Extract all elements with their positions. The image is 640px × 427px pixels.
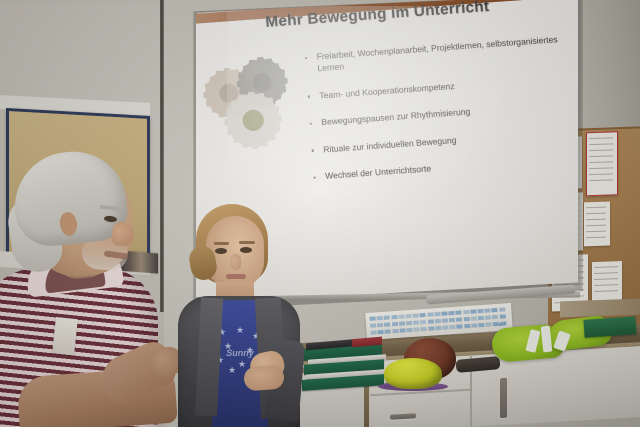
woman-eye-right xyxy=(240,247,252,253)
chart-cell xyxy=(457,324,463,328)
chart-cell xyxy=(384,315,390,319)
chart-cell xyxy=(398,314,404,318)
star-icon: ★ xyxy=(236,326,244,335)
chart-cell xyxy=(391,315,397,319)
chart-cell xyxy=(384,322,390,326)
star-icon: ★ xyxy=(238,360,246,369)
chart-cell xyxy=(492,315,498,319)
chart-cell xyxy=(420,320,426,324)
chart-cell xyxy=(449,318,455,322)
chart-cell xyxy=(500,321,506,325)
cork-board-highlight-document xyxy=(586,131,618,196)
safety-helmet xyxy=(384,358,442,389)
chart-cell xyxy=(370,330,376,334)
chart-cell xyxy=(399,328,405,332)
chart-cell xyxy=(499,314,505,318)
chart-cell xyxy=(378,330,384,334)
chart-cell xyxy=(484,308,490,312)
chart-cell xyxy=(463,317,469,321)
chart-cell xyxy=(427,319,433,323)
chart-cell xyxy=(485,322,491,326)
chart-cell xyxy=(449,325,455,329)
chart-cell xyxy=(370,316,376,320)
man-shirt-tag xyxy=(52,317,78,355)
chart-cell xyxy=(428,326,434,330)
woman-eyebrow-right xyxy=(239,241,255,244)
chart-cell xyxy=(478,316,484,320)
chart-cell xyxy=(442,318,448,322)
cabinet-door-handle[interactable] xyxy=(500,378,507,418)
chart-cell xyxy=(377,323,383,327)
chart-cell xyxy=(492,308,498,312)
chart-cell xyxy=(414,327,420,331)
chart-cell xyxy=(427,312,433,316)
chart-cell xyxy=(471,316,477,320)
chart-cell xyxy=(493,322,499,326)
chart-cell xyxy=(449,311,455,315)
woman-hand-right xyxy=(243,365,285,392)
chart-cell xyxy=(377,316,383,320)
chart-cell xyxy=(470,309,476,313)
chart-cell xyxy=(464,324,470,328)
chart-cell xyxy=(370,323,376,327)
chart-cell xyxy=(471,323,477,327)
chart-cell xyxy=(413,320,419,324)
gear-icon-large xyxy=(225,92,282,149)
chart-cell xyxy=(441,311,447,315)
star-icon: ★ xyxy=(228,366,236,375)
chart-cell xyxy=(463,310,469,314)
slide-bullet: Rituale zur individuellen Bewegung xyxy=(309,126,574,157)
chart-cell xyxy=(392,329,398,333)
chart-cell xyxy=(477,309,483,313)
chart-cell xyxy=(406,328,412,332)
slide-bullet: Team- und Kooperationskompetenz xyxy=(305,72,570,103)
chart-cell xyxy=(499,307,505,311)
chart-cell xyxy=(434,312,440,316)
woman-eye-left xyxy=(215,248,227,254)
chart-cell xyxy=(421,327,427,331)
chart-cell xyxy=(405,314,411,318)
ceiling-edge xyxy=(0,0,200,5)
chart-cell xyxy=(442,325,448,329)
chart-cell xyxy=(385,329,391,333)
chart-cell xyxy=(413,313,419,317)
chart-cell xyxy=(485,315,491,319)
chart-cell xyxy=(456,317,462,321)
green-binder xyxy=(583,316,636,338)
chart-cell xyxy=(420,313,426,317)
cork-board-document xyxy=(584,201,610,246)
chart-cell xyxy=(478,323,484,327)
chart-cell xyxy=(406,321,412,325)
slide-bullet: Wechsel der Unterrichtsorte xyxy=(311,153,576,184)
woman-eyebrow-left xyxy=(214,242,229,245)
woman-mouth xyxy=(226,274,246,279)
chart-cell xyxy=(399,321,405,325)
chart-cell xyxy=(456,310,462,314)
gears-icon xyxy=(201,57,301,155)
woman-nose xyxy=(230,254,241,270)
classroom-photograph: Dr. D. Breithecker Mehr Bewegung im Unte… xyxy=(0,0,640,427)
chart-cell xyxy=(435,326,441,330)
chart-cell xyxy=(392,322,398,326)
slide-bullet-list: Freiarbeit, Wochenplanarbeit, Projektler… xyxy=(302,33,577,198)
slide-bullet: Bewegungspausen zur Rhythmisierung xyxy=(307,99,572,130)
chart-cell xyxy=(435,319,441,323)
wall-seam xyxy=(160,0,164,312)
cork-board-document xyxy=(592,261,622,302)
